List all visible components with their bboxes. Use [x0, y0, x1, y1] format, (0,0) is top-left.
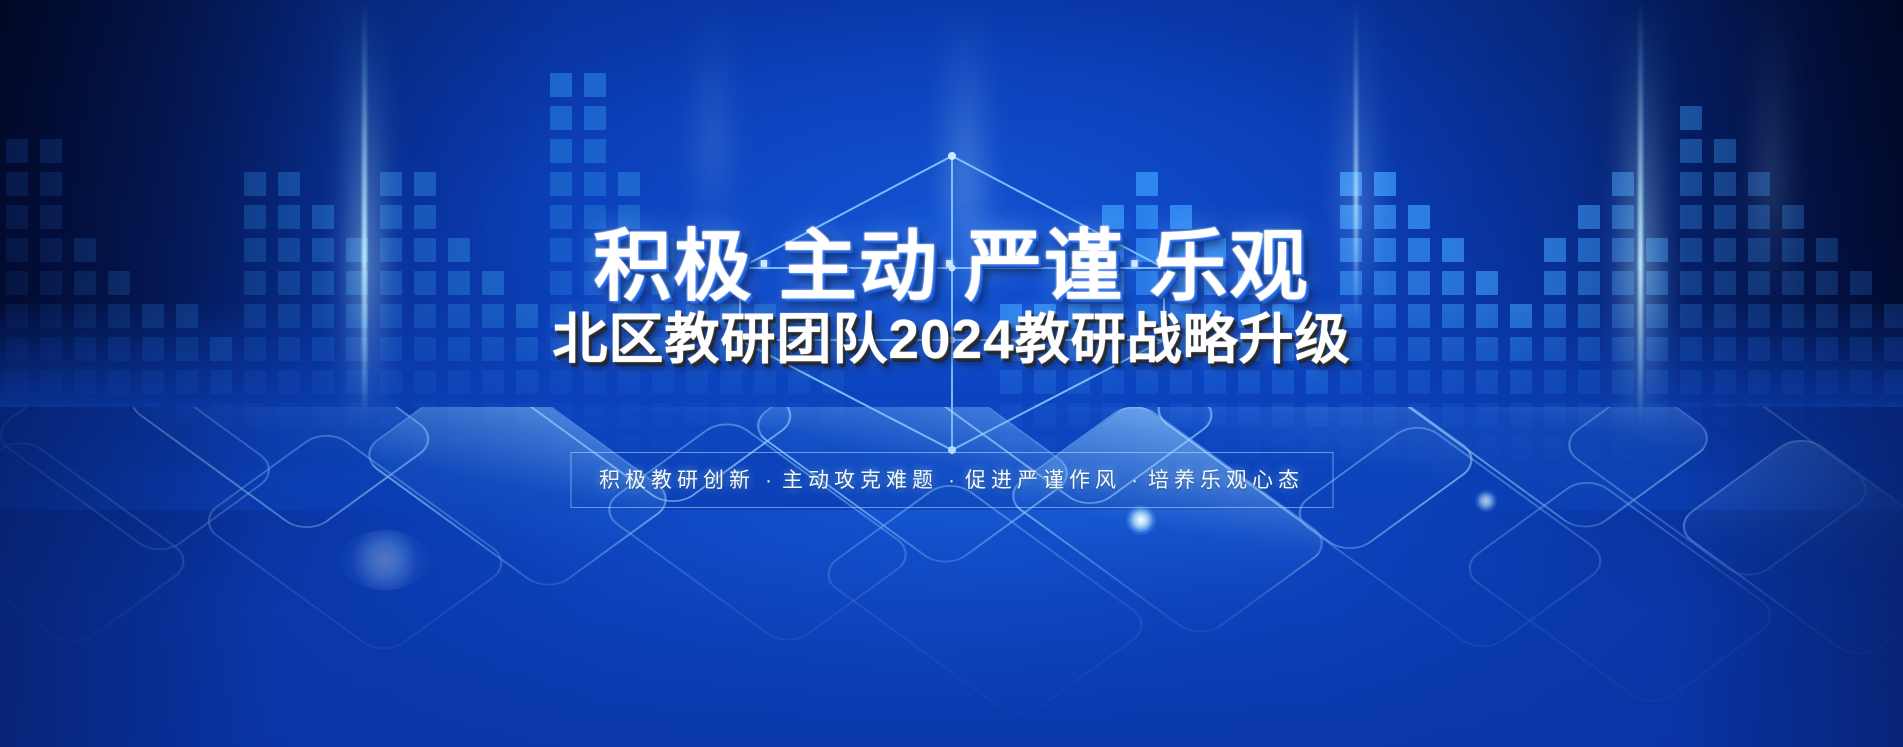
tagline-item-4: 培养乐观心态: [1148, 469, 1304, 492]
tagline-separator: ·: [1121, 469, 1148, 492]
tagline-item-1: 积极教研创新: [599, 469, 755, 492]
tagline-box: 积极教研创新·主动攻克难题·促进严谨作风·培养乐观心态: [570, 452, 1333, 508]
banner-content: 积极·主动·严谨·乐观 北区教研团队2024教研战略升级 积极教研创新·主动攻克…: [0, 0, 1903, 747]
tagline-separator: ·: [938, 469, 965, 492]
tagline-item-2: 主动攻克难题: [782, 469, 938, 492]
tagline-item-3: 促进严谨作风: [965, 469, 1121, 492]
tagline: 积极教研创新·主动攻克难题·促进严谨作风·培养乐观心态: [599, 464, 1304, 494]
subtitle-row: 北区教研团队2024教研战略升级: [0, 266, 1903, 412]
banner-canvas: 积极·主动·严谨·乐观 北区教研团队2024教研战略升级 积极教研创新·主动攻克…: [0, 0, 1903, 747]
tagline-separator: ·: [755, 469, 782, 492]
subtitle: 北区教研团队2024教研战略升级: [552, 312, 1350, 367]
